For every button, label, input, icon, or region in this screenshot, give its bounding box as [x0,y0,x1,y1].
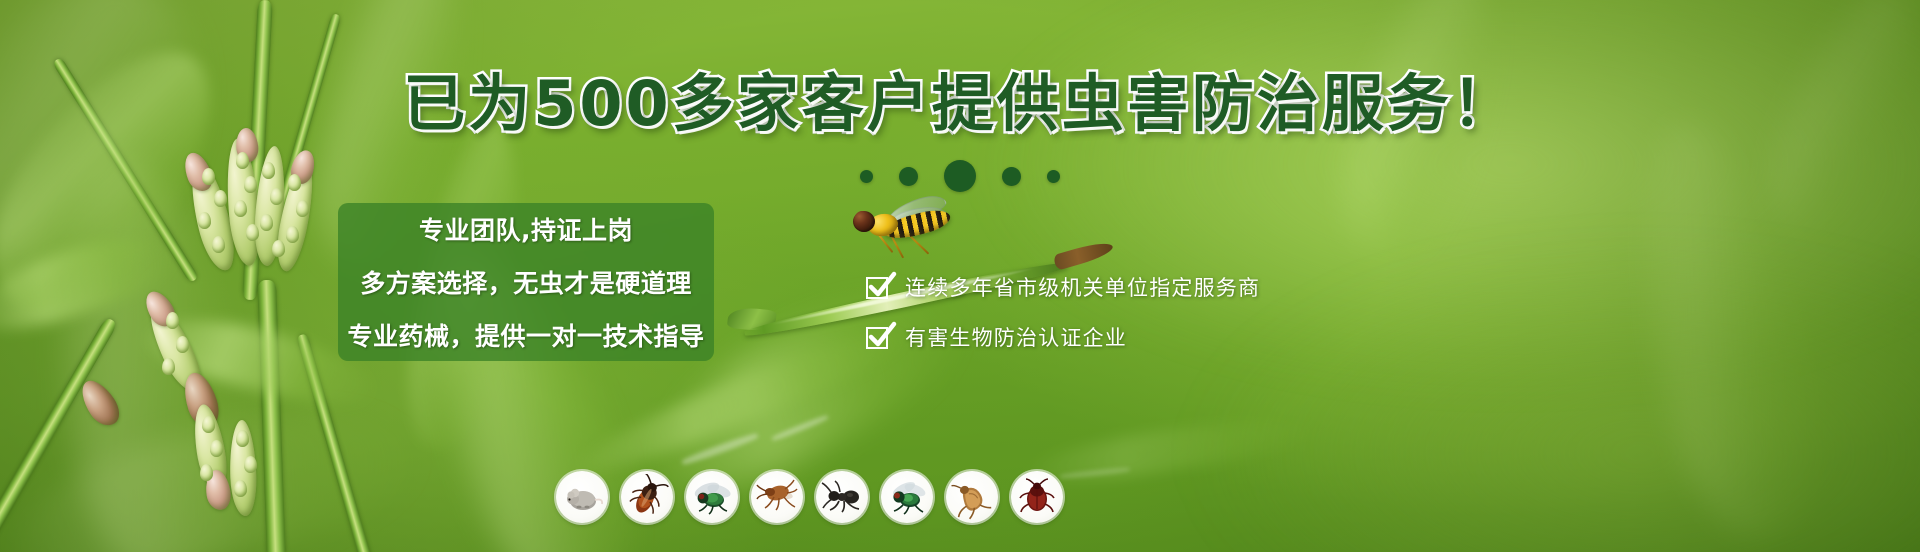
flea-icon[interactable] [946,471,998,523]
highlight-panel-text: 专业团队,持证上岗 多方案选择，无虫才是硬道理 专业药械，提供一对一技术指导 [338,203,714,361]
mouse-icon[interactable] [556,471,608,523]
housefly-icon[interactable] [686,471,738,523]
promotional-banner: 已为500多家客户提供虫害防治服务！ 专业团队,持证上岗 多方案选择，无虫才是硬… [0,0,1920,552]
headline-text: 已为500多家客户提供虫害防治服务！ [403,67,1516,140]
dot-small-left [860,170,873,183]
decorative-dots [0,160,1920,192]
checkbox-checked-icon [866,324,892,350]
list-item-label: 连续多年省市级机关单位指定服务商 [905,272,1260,302]
page-title: 已为500多家客户提供虫害防治服务！ [0,73,1920,135]
hoverfly-icon [845,198,963,260]
ant-icon[interactable] [816,471,868,523]
greenbottle-fly-icon[interactable] [881,471,933,523]
bedbug-icon[interactable] [1011,471,1063,523]
panel-line-2: 多方案选择，无虫才是硬道理 [360,257,692,307]
list-item: 连续多年省市级机关单位指定服务商 [866,272,1260,302]
mosquito-icon[interactable] [751,471,803,523]
dot-large-center [944,160,976,192]
dot-medium-left [899,167,918,186]
panel-line-1: 专业团队,持证上岗 [419,208,633,254]
list-item-label: 有害生物防治认证企业 [905,322,1127,352]
cockroach-icon[interactable] [621,471,673,523]
list-item: 有害生物防治认证企业 [866,322,1260,352]
dot-small-right [1047,170,1060,183]
credentials-checklist: 连续多年省市级机关单位指定服务商 有害生物防治认证企业 [866,272,1260,352]
panel-line-3: 专业药械，提供一对一技术指导 [347,310,704,356]
pest-icon-row [556,471,1063,523]
dot-medium-right [1002,167,1021,186]
checkbox-checked-icon [866,274,892,300]
